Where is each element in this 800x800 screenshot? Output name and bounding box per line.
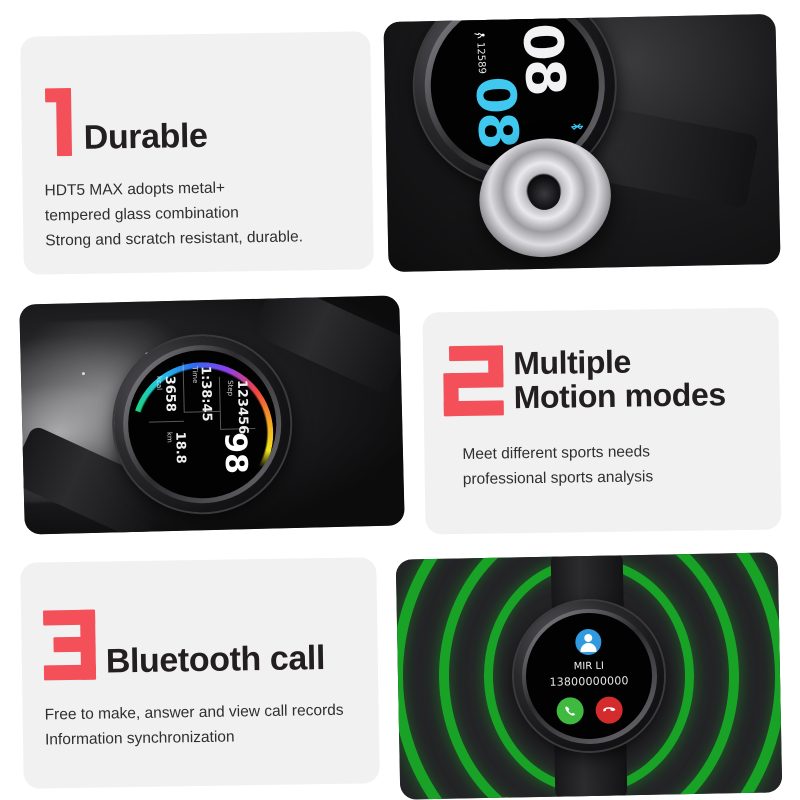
phone-decline-icon[interactable] — [595, 696, 623, 724]
segment-digit-one-icon — [43, 84, 74, 156]
feature-card-3: Bluetooth call Free to make, answer and … — [20, 557, 380, 789]
watch-screen-call: MIR LI 13800000000 — [525, 612, 653, 740]
feature-3-headline: Bluetooth call — [43, 604, 343, 681]
photo-1-content: 08 08 12589 — [383, 14, 780, 272]
segment-digit-two-icon — [443, 343, 504, 416]
photo-2-content: 123456 Step 1:38:45 Time 3658 kcal — [19, 295, 405, 534]
fitness-dashboard-face: 123456 Step 1:38:45 Time 3658 kcal — [127, 349, 278, 500]
incoming-call-face: MIR LI 13800000000 — [525, 612, 653, 740]
feature-1-headline: Durable — [43, 80, 302, 156]
feature-2-headline: Multiple Motion modes — [443, 340, 726, 416]
feature-card-1: Durable HDT5 MAX adopts metal+ tempered … — [20, 31, 374, 274]
call-action-buttons — [556, 696, 623, 724]
feature-card-2: Multiple Motion modes Meet different spo… — [422, 308, 781, 535]
step-count-value: 12589 — [474, 42, 487, 74]
product-feature-infographic: Durable HDT5 MAX adopts metal+ tempered … — [0, 0, 800, 800]
feature-2-title-line1: Multiple — [513, 344, 726, 381]
contact-avatar-icon — [575, 628, 601, 654]
metric-distance: 18.8 km — [158, 427, 195, 472]
clock-minutes: 08 — [467, 75, 525, 149]
metric-duration: 1:38:45 Time — [183, 362, 220, 413]
caller-number: 13800000000 — [549, 674, 628, 689]
feature-2-photo: 123456 Step 1:38:45 Time 3658 kcal — [19, 295, 405, 534]
metric-calories: 3658 kcal — [148, 371, 185, 422]
feature-1-photo: 08 08 12589 — [383, 14, 780, 272]
bluetooth-icon — [567, 121, 585, 133]
phone-accept-icon[interactable] — [556, 697, 584, 725]
photo-3-content: MIR LI 13800000000 — [396, 552, 783, 799]
feature-1-title: Durable — [83, 118, 207, 156]
metric-heart-rate: 98 — [218, 432, 254, 475]
watch-device-3: MIR LI 13800000000 — [513, 600, 666, 753]
running-person-icon — [474, 30, 485, 40]
feature-3-photo: MIR LI 13800000000 — [396, 552, 783, 799]
metric-steps: 123456 Step — [219, 376, 256, 430]
feature-1-description: HDT5 MAX adopts metal+ tempered glass co… — [44, 174, 303, 253]
step-counter: 12589 — [474, 30, 487, 74]
feature-3-title: Bluetooth call — [106, 640, 326, 679]
feature-2-title-line2: Motion modes — [513, 378, 726, 415]
feature-3-description: Free to make, answer and view call recor… — [44, 698, 344, 753]
segment-digit-three-icon — [43, 608, 96, 681]
caller-name: MIR LI — [574, 660, 604, 672]
feature-2-description: Meet different sports needs professional… — [462, 438, 727, 492]
